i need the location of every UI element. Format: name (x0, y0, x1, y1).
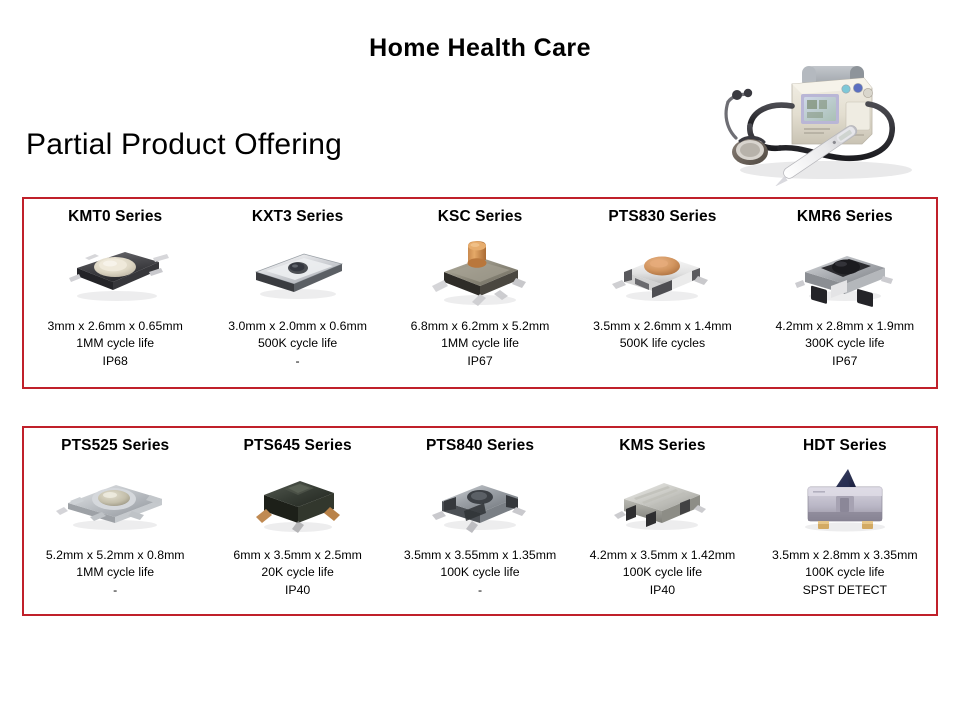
spec-cycle-life: 100K cycle life (590, 564, 736, 581)
product-specs: 4.2mm x 2.8mm x 1.9mm 300K cycle life IP… (775, 318, 914, 370)
spec-cycle-life: 1MM cycle life (48, 335, 183, 352)
product-image-pts525 (40, 463, 190, 541)
medical-equipment-photo (706, 58, 938, 186)
spec-cycle-life: 1MM cycle life (46, 564, 185, 581)
product-name: KSC Series (438, 208, 523, 228)
product-image-kms (587, 463, 737, 541)
product-cell-pts840[interactable]: PTS840 Series (389, 437, 571, 614)
product-specs: 6mm x 3.5mm x 2.5mm 20K cycle life IP40 (233, 547, 361, 599)
product-name: KMT0 Series (68, 208, 162, 228)
spec-dimensions: 5.2mm x 5.2mm x 0.8mm (46, 547, 185, 564)
product-specs: 4.2mm x 3.5mm x 1.42mm 100K cycle life I… (590, 547, 736, 599)
product-specs: 6.8mm x 6.2mm x 5.2mm 1MM cycle life IP6… (411, 318, 550, 370)
product-name: KXT3 Series (252, 208, 344, 228)
product-image-pts830 (587, 234, 737, 312)
spec-rating: - (404, 582, 556, 599)
spec-dimensions: 4.2mm x 2.8mm x 1.9mm (775, 318, 914, 335)
product-name: KMR6 Series (797, 208, 893, 228)
product-cell-hdt[interactable]: HDT Series (754, 437, 936, 614)
product-image-pts645 (223, 463, 373, 541)
spec-cycle-life: 100K cycle life (772, 564, 918, 581)
product-name: PTS645 Series (244, 437, 352, 457)
spec-dimensions: 4.2mm x 3.5mm x 1.42mm (590, 547, 736, 564)
product-row-2: PTS525 Series (22, 426, 938, 616)
spec-dimensions: 3.5mm x 2.8mm x 3.35mm (772, 547, 918, 564)
spec-rating: IP40 (590, 582, 736, 599)
product-cell-pts525[interactable]: PTS525 Series (24, 437, 206, 614)
product-cell-pts830[interactable]: PTS830 Series (571, 208, 753, 387)
spec-dimensions: 3.0mm x 2.0mm x 0.6mm (228, 318, 367, 335)
spec-rating: - (46, 582, 185, 599)
product-name: PTS840 Series (426, 437, 534, 457)
product-name: HDT Series (803, 437, 887, 457)
product-image-pts840 (405, 463, 555, 541)
spec-rating: - (228, 353, 367, 370)
spec-cycle-life: 500K cycle life (228, 335, 367, 352)
product-cell-kmr6[interactable]: KMR6 Series (754, 208, 936, 387)
spec-cycle-life: 20K cycle life (233, 564, 361, 581)
product-name: PTS525 Series (61, 437, 169, 457)
product-cell-kms[interactable]: KMS Series (571, 437, 753, 614)
spec-cycle-life: 300K cycle life (775, 335, 914, 352)
slide-subtitle: Partial Product Offering (26, 128, 342, 162)
product-name: PTS830 Series (608, 208, 716, 228)
product-specs: 3.5mm x 2.6mm x 1.4mm 500K life cycles (593, 318, 732, 353)
product-row-1: KMT0 Series (22, 197, 938, 389)
spec-rating: IP68 (48, 353, 183, 370)
product-specs: 5.2mm x 5.2mm x 0.8mm 1MM cycle life - (46, 547, 185, 599)
spec-dimensions: 3.5mm x 3.55mm x 1.35mm (404, 547, 556, 564)
product-image-kmt0 (40, 234, 190, 312)
product-name: KMS Series (619, 437, 705, 457)
spec-rating: IP67 (411, 353, 550, 370)
spec-dimensions: 6.8mm x 6.2mm x 5.2mm (411, 318, 550, 335)
product-image-kmr6 (770, 234, 920, 312)
spec-dimensions: 6mm x 3.5mm x 2.5mm (233, 547, 361, 564)
spec-rating: IP67 (775, 353, 914, 370)
product-specs: 3.5mm x 3.55mm x 1.35mm 100K cycle life … (404, 547, 556, 599)
spec-dimensions: 3mm x 2.6mm x 0.65mm (48, 318, 183, 335)
product-image-kxt3 (223, 234, 373, 312)
spec-cycle-life: 500K life cycles (593, 335, 732, 352)
spec-cycle-life: 100K cycle life (404, 564, 556, 581)
product-cell-pts645[interactable]: PTS645 Series (206, 437, 388, 614)
spec-rating: SPST DETECT (772, 582, 918, 599)
spec-dimensions: 3.5mm x 2.6mm x 1.4mm (593, 318, 732, 335)
product-cell-ksc[interactable]: KSC Series (389, 208, 571, 387)
product-image-hdt (770, 463, 920, 541)
product-grid-row-2: PTS525 Series (24, 428, 936, 614)
spec-rating: IP40 (233, 582, 361, 599)
product-cell-kxt3[interactable]: KXT3 Series (206, 208, 388, 387)
product-specs: 3.0mm x 2.0mm x 0.6mm 500K cycle life - (228, 318, 367, 370)
spec-cycle-life: 1MM cycle life (411, 335, 550, 352)
product-grid-row-1: KMT0 Series (24, 199, 936, 387)
product-image-ksc (405, 234, 555, 312)
product-specs: 3.5mm x 2.8mm x 3.35mm 100K cycle life S… (772, 547, 918, 599)
product-cell-kmt0[interactable]: KMT0 Series (24, 208, 206, 387)
product-specs: 3mm x 2.6mm x 0.65mm 1MM cycle life IP68 (48, 318, 183, 370)
